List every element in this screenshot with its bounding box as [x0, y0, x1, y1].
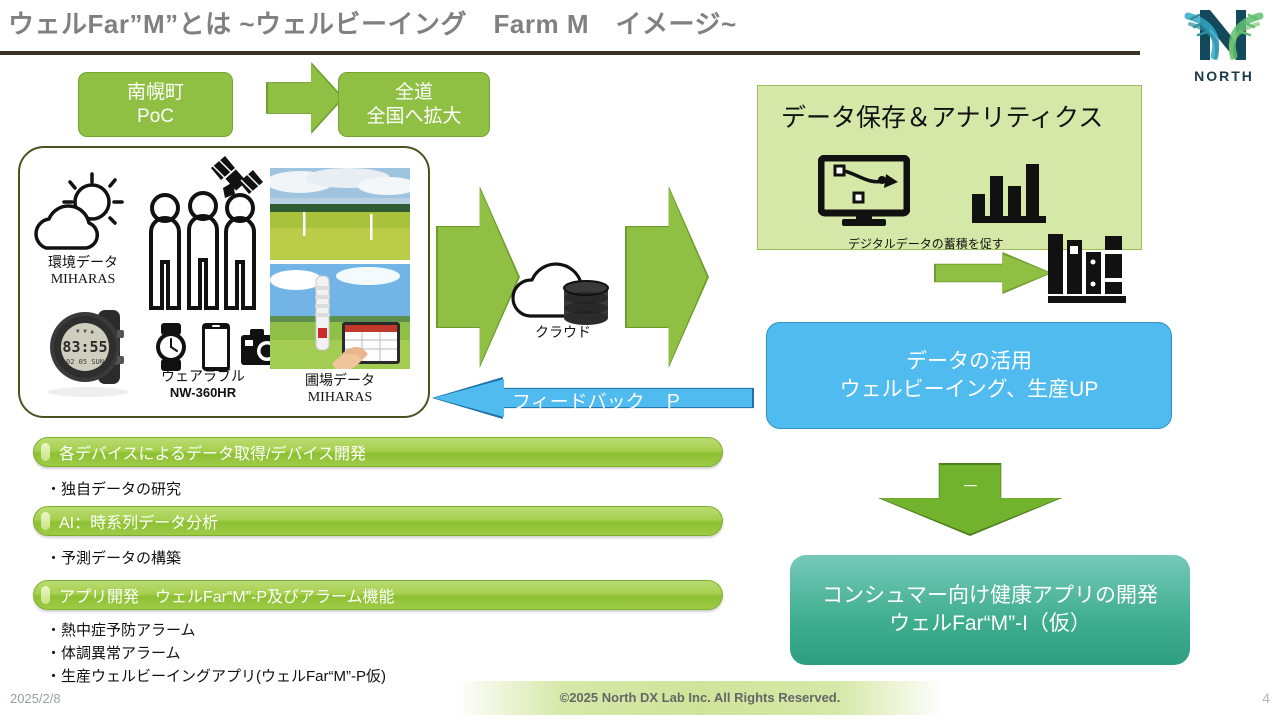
bar-chart-icon [972, 152, 1050, 229]
from-cloud-arrow-icon [627, 188, 707, 366]
utilization-line1: データの活用 [906, 348, 1032, 375]
task-bar-ai[interactable]: AI：時系列データ分析 [33, 506, 723, 536]
north-dx-lab-logo: NORTH [1176, 2, 1272, 94]
field-photo-bottom [270, 264, 410, 369]
accumulate-arrow-icon [936, 254, 1050, 292]
smartphone-icon [200, 322, 232, 377]
poc-line2: PoC [137, 105, 174, 129]
task-bar-label: アプリ開発 ウェルFar“M”-P及びアラーム機能 [59, 583, 395, 607]
wearable-label-line1: ウェアラブル [140, 370, 266, 386]
feedback-label: フィードバック Ｐ [512, 387, 683, 414]
monitor-analytics-icon [818, 155, 910, 232]
wearable-label: ウェアラブル NW-360HR [140, 370, 266, 401]
env-label-line2: MIHARAS [24, 272, 142, 288]
poc-box[interactable]: 南幌町 PoC [78, 72, 233, 137]
analytics-panel-title: データ保存＆アナリティクス [781, 98, 1103, 134]
field-label-line1: 圃場データ [270, 374, 410, 390]
task-bullet-ai-0: ・予測データの構築 [46, 547, 181, 568]
env-data-label: 環境データ MIHARAS [24, 256, 142, 288]
cloud-label: クラウド [508, 326, 618, 342]
task-bar-nub [41, 443, 50, 461]
expand-box[interactable]: 全道 全国へ拡大 [338, 72, 490, 137]
task-bullet-app-0: ・熱中症予防アラーム [46, 619, 196, 640]
task-bar-label: 各デバイスによるデータ取得/デバイス開発 [59, 440, 366, 464]
expand-line2: 全国へ拡大 [366, 105, 461, 129]
archive-books-icon [1048, 228, 1134, 311]
watch-icon [150, 322, 192, 377]
satellite-icon [205, 152, 267, 219]
footer-copyright: ©2025 North DX Lab Inc. All Rights Reser… [455, 690, 945, 705]
task-bullet-devices-0: ・独自データの研究 [46, 478, 181, 499]
svg-text:02 05 SUN: 02 05 SUN [66, 358, 104, 366]
field-data-label: 圃場データ MIHARAS [270, 374, 410, 406]
expand-arrow-icon [268, 64, 342, 132]
logo-wordmark: NORTH [1176, 68, 1272, 84]
task-bar-devices[interactable]: 各デバイスによるデータ取得/デバイス開発 [33, 437, 723, 467]
task-bar-label: AI：時系列データ分析 [59, 509, 218, 533]
env-label-line1: 環境データ [24, 256, 142, 272]
to-cloud-arrow-icon [438, 188, 518, 366]
svg-text:83:55: 83:55 [62, 338, 107, 356]
task-bullet-app-1: ・体調異常アラーム [46, 642, 181, 663]
footer-date: 2025/2/8 [10, 691, 61, 706]
consumer-line2: ウェルFar“M”-I（仮） [889, 610, 1091, 638]
field-photo-top [270, 168, 410, 260]
slide-canvas: ウェルFar”M”とは ~ウェルビーイング Farm M イメージ~ NORTH… [0, 0, 1280, 720]
footer-page-number: 4 [1262, 690, 1270, 706]
task-bullet-app-2: ・生産ウェルビーイングアプリ(ウェルFar“M”-P仮) [46, 665, 386, 686]
consumer-app-box[interactable]: コンシュマー向け健康アプリの開発 ウェルFar“M”-I（仮） [790, 555, 1190, 665]
analytics-panel-subtitle: デジタルデータの蓄積を促す [848, 235, 1004, 252]
smartwatch-icon: 83:55 02 05 SUN ▼ ▼ ▲ [40, 300, 146, 405]
arrow-down-icon [880, 465, 1060, 534]
task-bar-nub [41, 586, 50, 604]
consumer-line1: コンシュマー向け健康アプリの開発 [822, 582, 1158, 610]
page-title: ウェルFar”M”とは ~ウェルビーイング Farm M イメージ~ [8, 4, 737, 41]
expand-line1: 全道 [395, 81, 433, 105]
down-arrow-inner-label: － [962, 478, 979, 495]
field-label-line2: MIHARAS [270, 390, 410, 406]
wearable-label-line2: NW-360HR [140, 386, 266, 401]
poc-line1: 南幌町 [127, 81, 184, 105]
title-divider [0, 51, 1140, 55]
utilization-line2: ウェルビーイング、生産UP [840, 376, 1099, 403]
sun-cloud-icon [32, 170, 132, 265]
task-bar-app[interactable]: アプリ開発 ウェルFar“M”-P及びアラーム機能 [33, 580, 723, 610]
task-bar-nub [41, 512, 50, 530]
svg-text:▼ ▼ ▲: ▼ ▼ ▲ [76, 328, 94, 335]
cloud-database-icon [508, 250, 618, 335]
data-utilization-box[interactable]: データの活用 ウェルビーイング、生産UP [766, 322, 1172, 429]
